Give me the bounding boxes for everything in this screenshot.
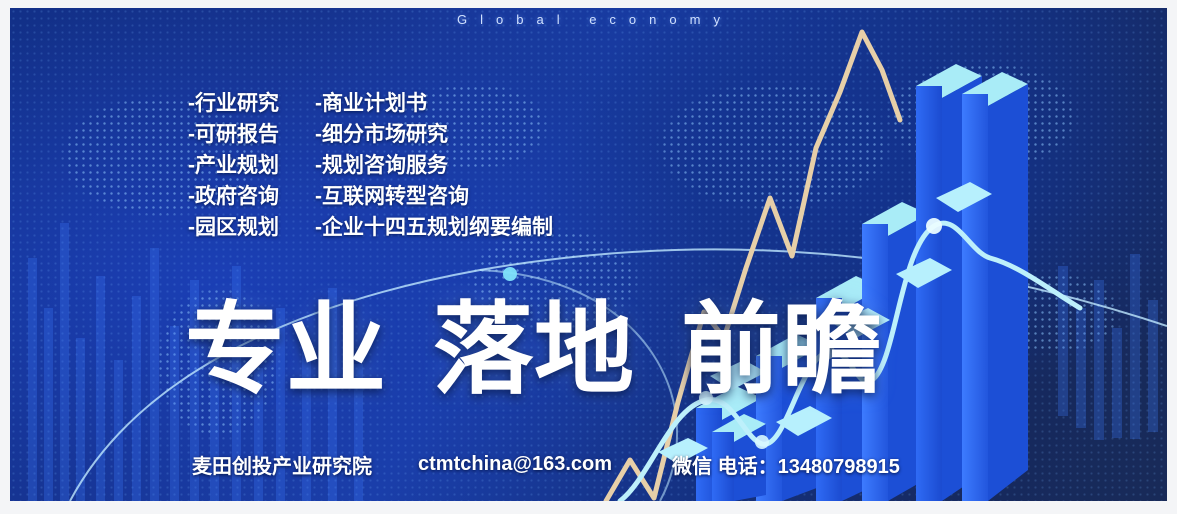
- service-item: -行业研究: [188, 90, 279, 118]
- service-item: -细分市场研究: [315, 121, 553, 149]
- headline-word: 落地: [433, 300, 635, 400]
- service-item: -规划咨询服务: [315, 152, 553, 180]
- headline-word: 专业: [185, 300, 387, 400]
- email-address: ctmtchina@163.com: [418, 453, 612, 476]
- services-lists: -行业研究 -可研报告 -产业规划 -政府咨询 -园区规划 -商业计划书 -细分…: [188, 90, 553, 242]
- service-item: -政府咨询: [188, 183, 279, 211]
- service-item: -互联网转型咨询: [315, 183, 553, 211]
- service-item: -可研报告: [188, 121, 279, 149]
- kicker-text: Global economy: [10, 12, 1167, 27]
- footer-contact-row: 麦田创投产业研究院 ctmtchina@163.com 微信 电话：134807…: [192, 450, 900, 479]
- service-item: -产业规划: [188, 152, 279, 180]
- service-item: -商业计划书: [315, 90, 553, 118]
- services-left-column: -行业研究 -可研报告 -产业规划 -政府咨询 -园区规划: [188, 90, 279, 242]
- promo-banner: Global economy -行业研究 -可研报告 -产业规划 -政府咨询 -…: [10, 8, 1167, 501]
- cyan-trend-line: [10, 8, 1167, 501]
- services-right-column: -商业计划书 -细分市场研究 -规划咨询服务 -互联网转型咨询 -企业十四五规划…: [315, 90, 553, 242]
- screenshot-root: Global economy -行业研究 -可研报告 -产业规划 -政府咨询 -…: [0, 0, 1177, 514]
- service-item: -企业十四五规划纲要编制: [315, 214, 553, 242]
- phone-contact: 微信 电话：13480798915: [672, 450, 900, 479]
- headline: 专业 落地 前瞻: [185, 300, 883, 400]
- headline-word: 前瞻: [681, 300, 883, 400]
- service-item: -园区规划: [188, 214, 279, 242]
- organization-name: 麦田创投产业研究院: [192, 450, 372, 479]
